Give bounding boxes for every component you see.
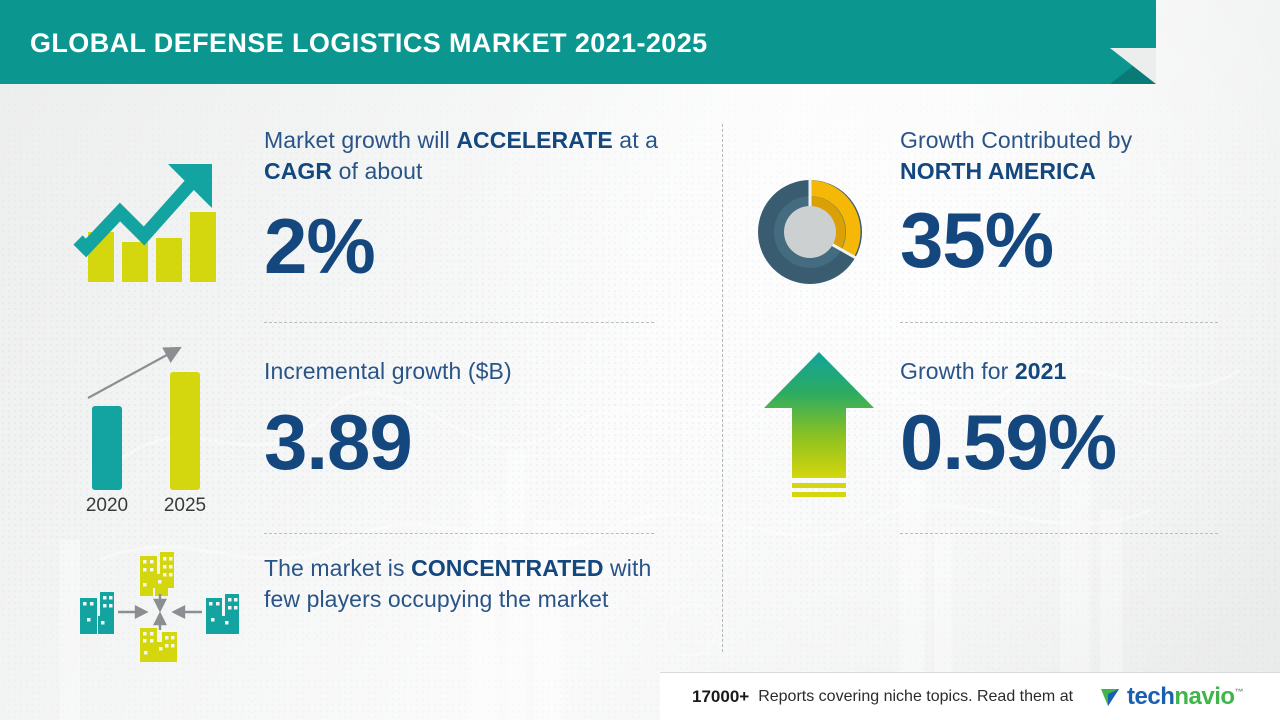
- growth-2021-year: 2021: [1015, 358, 1067, 384]
- right-divider-1: [900, 322, 1218, 323]
- triangle-play-mark-icon: [1099, 685, 1123, 709]
- left-divider-2: [264, 533, 654, 534]
- cagr-label-accelerate: ACCELERATE: [456, 127, 612, 153]
- donut-chart-icon: [748, 170, 872, 294]
- technavio-logo[interactable]: technavio™: [1099, 683, 1243, 711]
- cagr-label-cagr: CAGR: [264, 158, 332, 184]
- incremental-bar-chart-icon: 2020 2025: [72, 336, 232, 516]
- growth-2021-part-1: Growth for: [900, 358, 1015, 384]
- cagr-value: 2%: [264, 209, 664, 283]
- stat-block-cagr: Market growth will ACCELERATE at a CAGR …: [264, 125, 664, 283]
- concentration-keyword: CONCENTRATED: [411, 555, 603, 581]
- stat-block-north-america: Growth Contributed by NORTH AMERICA 35%: [900, 125, 1230, 277]
- infographic-page: GLOBAL DEFENSE LOGISTICS MARKET 2021-202…: [0, 0, 1280, 720]
- left-divider-1: [264, 322, 654, 323]
- bar-label-2020: 2020: [86, 495, 128, 516]
- footer-bar: 17000+ Reports covering niche topics. Re…: [660, 672, 1280, 720]
- stat-block-incremental-growth: Incremental growth ($B) 3.89: [264, 356, 664, 479]
- stat-block-concentration: The market is CONCENTRATED with few play…: [264, 553, 664, 615]
- growth-2021-label: Growth for 2021: [900, 356, 1230, 387]
- concentration-label: The market is CONCENTRATED with few play…: [264, 553, 664, 615]
- incremental-growth-label: Incremental growth ($B): [264, 356, 664, 387]
- cagr-label-part-5: of about: [332, 158, 422, 184]
- cagr-label-part-1: Market growth will: [264, 127, 456, 153]
- technavio-wordmark: technavio™: [1127, 683, 1243, 711]
- north-america-part-1: Growth Contributed by: [900, 127, 1132, 153]
- north-america-region: NORTH AMERICA: [900, 158, 1096, 184]
- cagr-label: Market growth will ACCELERATE at a CAGR …: [264, 125, 664, 187]
- page-title: GLOBAL DEFENSE LOGISTICS MARKET 2021-202…: [30, 28, 708, 59]
- up-arrow-icon: [762, 350, 876, 502]
- logo-trademark: ™: [1235, 687, 1244, 697]
- concentration-part-1: The market is: [264, 555, 411, 581]
- logo-text-tech: tech: [1127, 683, 1174, 710]
- bar-label-2025: 2025: [164, 495, 206, 516]
- logo-text-navio: navio: [1174, 683, 1234, 710]
- incremental-growth-value: 3.89: [264, 405, 664, 479]
- growth-2021-value: 0.59%: [900, 405, 1230, 479]
- footer-tagline: Reports covering niche topics. Read them…: [758, 688, 1073, 706]
- footer-report-count: 17000+: [692, 687, 749, 707]
- column-divider: [722, 124, 723, 652]
- cagr-label-part-3: at a: [613, 127, 658, 153]
- right-divider-2: [900, 533, 1218, 534]
- north-america-value: 35%: [900, 203, 1230, 277]
- stat-block-growth-2021: Growth for 2021 0.59%: [900, 356, 1230, 479]
- market-concentration-icon: [78, 550, 243, 670]
- north-america-label: Growth Contributed by NORTH AMERICA: [900, 125, 1230, 187]
- growth-arrow-chart-icon: [70, 150, 230, 290]
